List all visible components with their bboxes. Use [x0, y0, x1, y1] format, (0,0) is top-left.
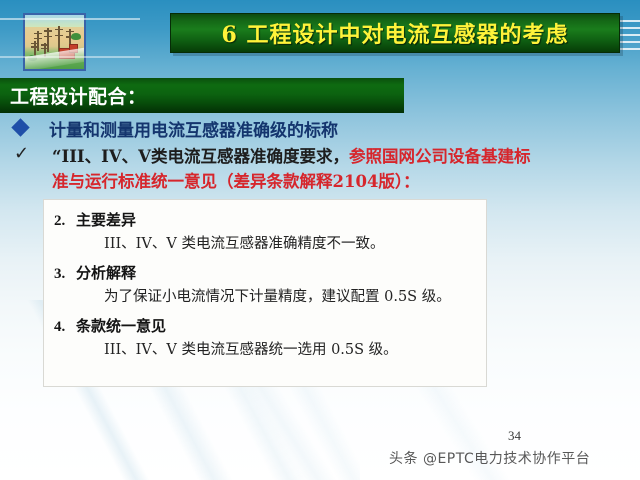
section-band: 工程设计配合： [0, 78, 404, 113]
thumbnail-road [23, 46, 86, 71]
content-section-body: III、IV、V 类电流互感器统一选用 0.5S 级。 [44, 338, 486, 359]
content-section-title: 条款统一意见 [76, 315, 166, 336]
content-section-body: III、IV、V 类电流互感器准确精度不一致。 [44, 232, 486, 253]
check-row-text: “III、IV、V类电流互感器准确度要求，参照国网公司设备基建标 准与运行标准统… [52, 144, 530, 194]
page-title: 6 工程设计中对电流互感器的考虑 [222, 17, 569, 49]
slide-title-bar: 6 工程设计中对电流互感器的考虑 [170, 13, 620, 53]
content-section-header: 4. 条款统一意见 [44, 315, 486, 336]
header-stripe [618, 34, 640, 36]
header-stripe [618, 20, 640, 22]
content-section: 3. 分析解释 为了保证小电流情况下计量精度，建议配置 0.5S 级。 [44, 262, 486, 306]
content-section-number: 3. [54, 266, 76, 283]
content-section-header: 2. 主要差异 [44, 209, 486, 230]
header-stripe [618, 48, 640, 50]
check-row: ✓ “III、IV、V类电流互感器准确度要求，参照国网公司设备基建标 准与运行标… [14, 144, 630, 194]
content-section-number: 4. [54, 319, 76, 336]
header-stripe [618, 41, 640, 43]
checkmark-icon: ✓ [14, 144, 32, 164]
section-band-label: 工程设计配合： [0, 82, 147, 109]
quoted-content-box: 2. 主要差异 III、IV、V 类电流互感器准确精度不一致。 3. 分析解释 … [43, 199, 487, 387]
header-stripe-left [0, 18, 140, 20]
content-section-body: 为了保证小电流情况下计量精度，建议配置 0.5S 级。 [44, 285, 486, 306]
diamond-bullet-icon [11, 118, 29, 136]
foliage-icon [71, 33, 81, 40]
header-stripe-left [0, 56, 140, 58]
check-text-red-part1: 参照国网公司设备基建标 [349, 147, 531, 166]
content-section: 2. 主要差异 III、IV、V 类电流互感器准确精度不一致。 [44, 209, 486, 253]
content-section-title: 主要差异 [76, 209, 136, 230]
bullet-label: 计量和测量用电流互感器准确级的标称 [49, 116, 338, 141]
thumbnail-sky [25, 15, 84, 27]
check-text-dark: “III、IV、V类电流互感器准确度要求， [52, 147, 349, 166]
slide-canvas: 6 工程设计中对电流互感器的考虑 工程设计配合： 计量和测量用电流互感器准确级的… [0, 0, 640, 480]
watermark-text: 头条 @EPTC电力技术协作平台 [389, 448, 590, 468]
check-text-red-part2: 准与运行标准统一意见（差异条款解释2104版）： [52, 172, 420, 191]
content-section-header: 3. 分析解释 [44, 262, 486, 283]
content-section-number: 2. [54, 213, 76, 230]
content-section-title: 分析解释 [76, 262, 136, 283]
header-stripe [618, 27, 640, 29]
page-number: 34 [508, 428, 521, 444]
bullet-row: 计量和测量用电流互感器准确级的标称 [14, 116, 624, 141]
slide-thumbnail-image [23, 13, 86, 71]
pylon-icon [37, 31, 39, 51]
content-section: 4. 条款统一意见 III、IV、V 类电流互感器统一选用 0.5S 级。 [44, 315, 486, 359]
